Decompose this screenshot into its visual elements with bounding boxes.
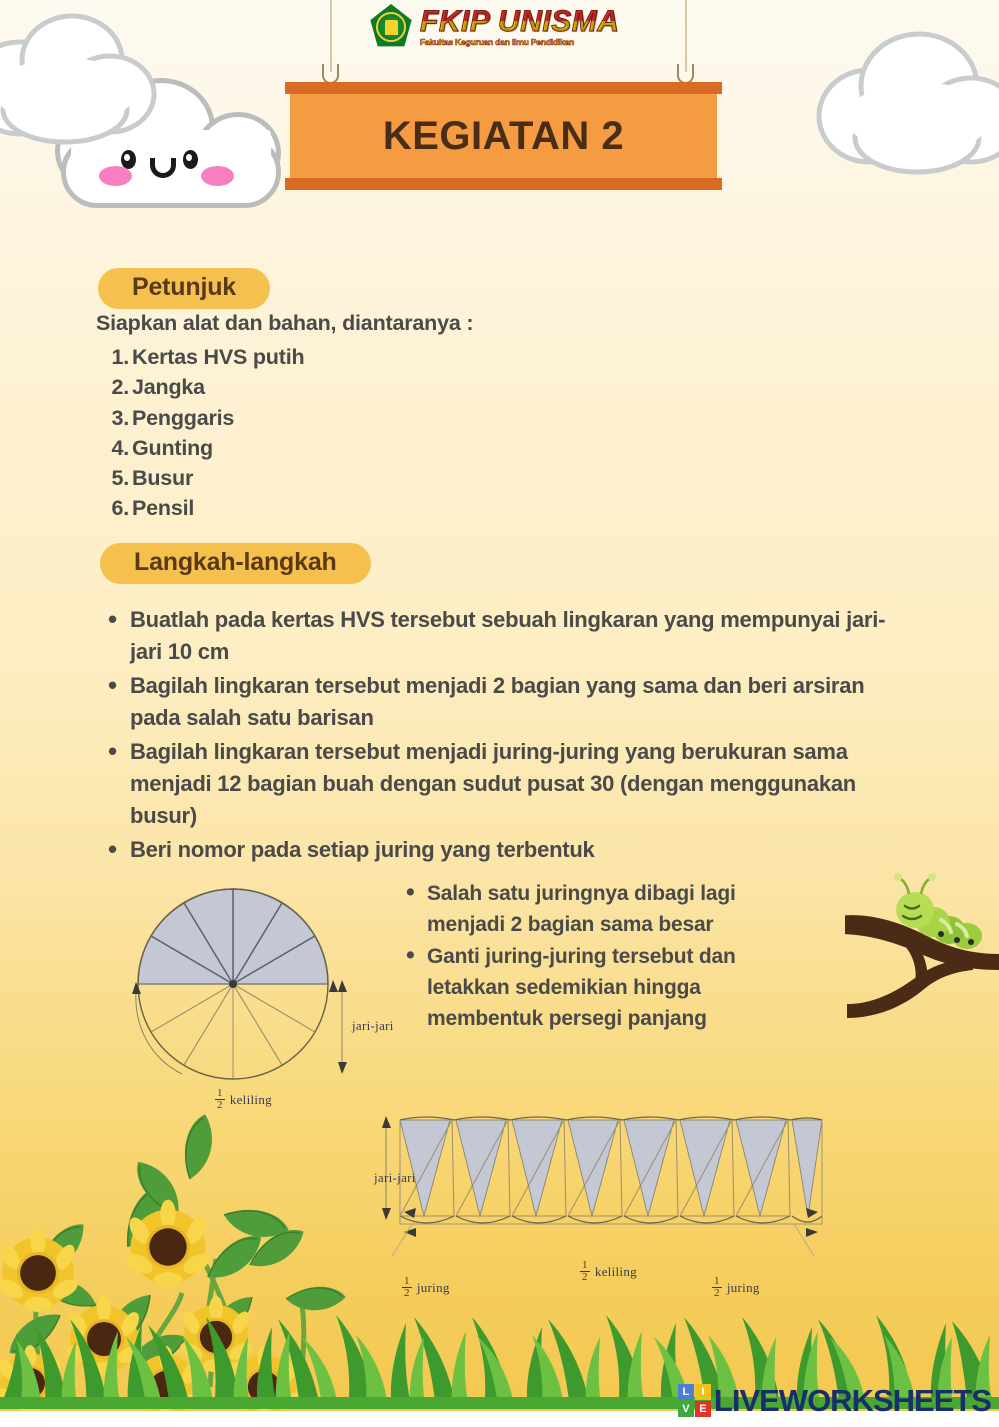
tile-l: L [678,1384,694,1400]
list-item: • Beri nomor pada setiap juring yang ter… [108,834,898,866]
langkah-heading-pill: Langkah-langkah [100,543,371,584]
list-item-number: 4. [104,433,132,463]
list-item: 1. Kertas HVS putih [104,342,624,372]
list-item-number: 2. [104,372,132,402]
list-item-label: Bagilah lingkaran tersebut menjadi 2 bag… [130,670,898,734]
list-item-label: Beri nomor pada setiap juring yang terbe… [130,834,595,866]
worksheet-page: FKIP UNISMA Fakultas Keguruan dan Ilmu P… [0,0,999,1427]
liveworksheets-wordmark: LIVEWORKSHEETS [714,1385,991,1416]
list-item: • Bagilah lingkaran tersebut menjadi jur… [108,736,898,832]
list-item-number: 5. [104,463,132,493]
list-item-number: 6. [104,493,132,523]
list-item-number: 3. [104,403,132,433]
langkah-substeps-list: • Salah satu juringnya dibagi lagi menja… [406,878,758,1035]
list-item-label: Kertas HVS putih [132,342,304,372]
petunjuk-lead-text: Siapkan alat dan bahan, diantaranya : [96,311,736,336]
bullet-icon: • [108,604,130,668]
petunjuk-heading-pill: Petunjuk [98,268,270,309]
langkah-steps-list: • Buatlah pada kertas HVS tersebut sebua… [108,604,898,868]
list-item-number: 1. [104,342,132,372]
alat-bahan-list: 1. Kertas HVS putih 2. Jangka 3. Penggar… [104,342,624,524]
list-item-label: Buatlah pada kertas HVS tersebut sebuah … [130,604,898,668]
bullet-icon: • [108,670,130,734]
list-item-label: Salah satu juringnya dibagi lagi menjadi… [427,878,758,940]
list-item: 4. Gunting [104,433,624,463]
bullet-icon: • [108,736,130,832]
list-item: 6. Pensil [104,493,624,523]
list-item: • Bagilah lingkaran tersebut menjadi 2 b… [108,670,898,734]
bullet-icon: • [108,834,130,866]
list-item: • Buatlah pada kertas HVS tersebut sebua… [108,604,898,668]
bullet-icon: • [406,941,427,1034]
list-item-label: Gunting [132,433,213,463]
list-item-label: Ganti juring-juring tersebut dan letakka… [427,941,758,1034]
list-item-label: Busur [132,463,193,493]
list-item: • Salah satu juringnya dibagi lagi menja… [406,878,758,940]
list-item: 2. Jangka [104,372,624,402]
tile-v: V [678,1401,694,1417]
list-item-label: Pensil [132,493,194,523]
list-item-label: Bagilah lingkaran tersebut menjadi jurin… [130,736,898,832]
list-item-label: Jangka [132,372,205,402]
liveworksheets-tiles: L I V E [678,1384,711,1417]
list-item: • Ganti juring-juring tersebut dan letak… [406,941,758,1034]
bullet-icon: • [406,878,427,940]
list-item-label: Penggaris [132,403,234,433]
liveworksheets-logo[interactable]: L I V E LIVEWORKSHEETS [678,1384,991,1417]
tile-e: E [695,1401,711,1417]
list-item: 3. Penggaris [104,403,624,433]
list-item: 5. Busur [104,463,624,493]
tile-i: I [695,1384,711,1400]
